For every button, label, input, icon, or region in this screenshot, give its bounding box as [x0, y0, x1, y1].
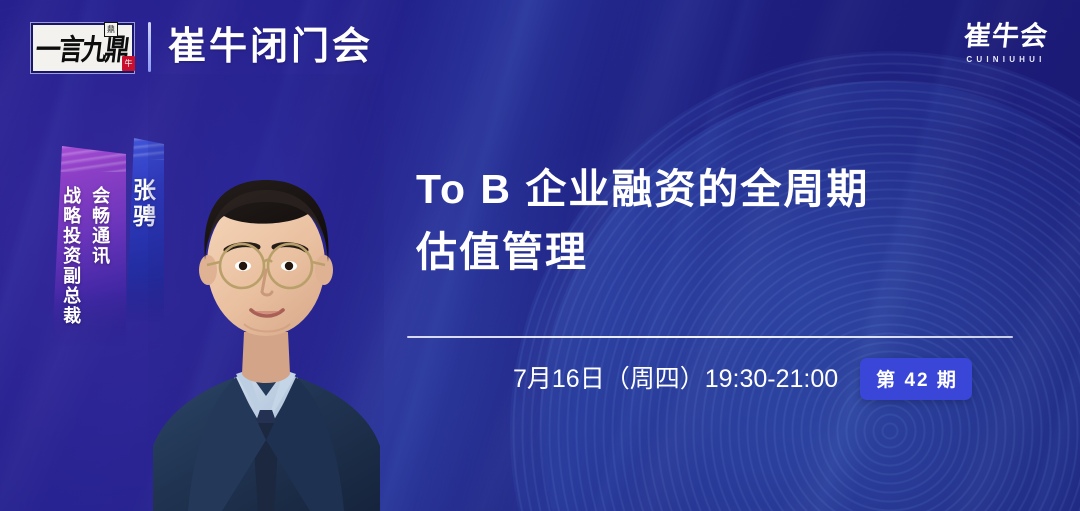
calligraphy-logo-seal-top: 鼎 [104, 22, 118, 37]
calligraphy-logo-seal-red: 牛 [122, 56, 135, 71]
speaker-portrait-illustration [148, 74, 384, 511]
episode-badge: 第 42 期 [860, 358, 972, 400]
calligraphy-logo: 一言九鼎 [31, 23, 134, 73]
speaker-job-title: 战略投资副总裁 [61, 186, 80, 326]
title-divider-rule [407, 336, 1013, 338]
speaker-portrait [148, 74, 384, 511]
session-datetime: 7月16日（周四）19:30-21:00 [513, 361, 838, 397]
session-title: To B 企业融资的全周期 估值管理 [416, 158, 1016, 284]
session-title-line1: To B 企业融资的全周期 [416, 166, 869, 212]
poster-main-content: To B 企业融资的全周期 估值管理 7月16日（周四）19:30-21:00 … [407, 0, 1027, 511]
speaker-company: 会畅通讯 [90, 186, 109, 266]
session-title-line2: 估值管理 [416, 221, 1016, 284]
brand-title: 崔牛闭门会 [168, 24, 373, 70]
poster-canvas: 一言九鼎 鼎 牛 崔牛闭门会 崔牛会 CUINIUHUI 战略投资副总裁 会畅通… [0, 0, 1080, 511]
session-meta: 7月16日（周四）19:30-21:00 第 42 期 [513, 358, 972, 400]
header-divider [148, 22, 151, 72]
